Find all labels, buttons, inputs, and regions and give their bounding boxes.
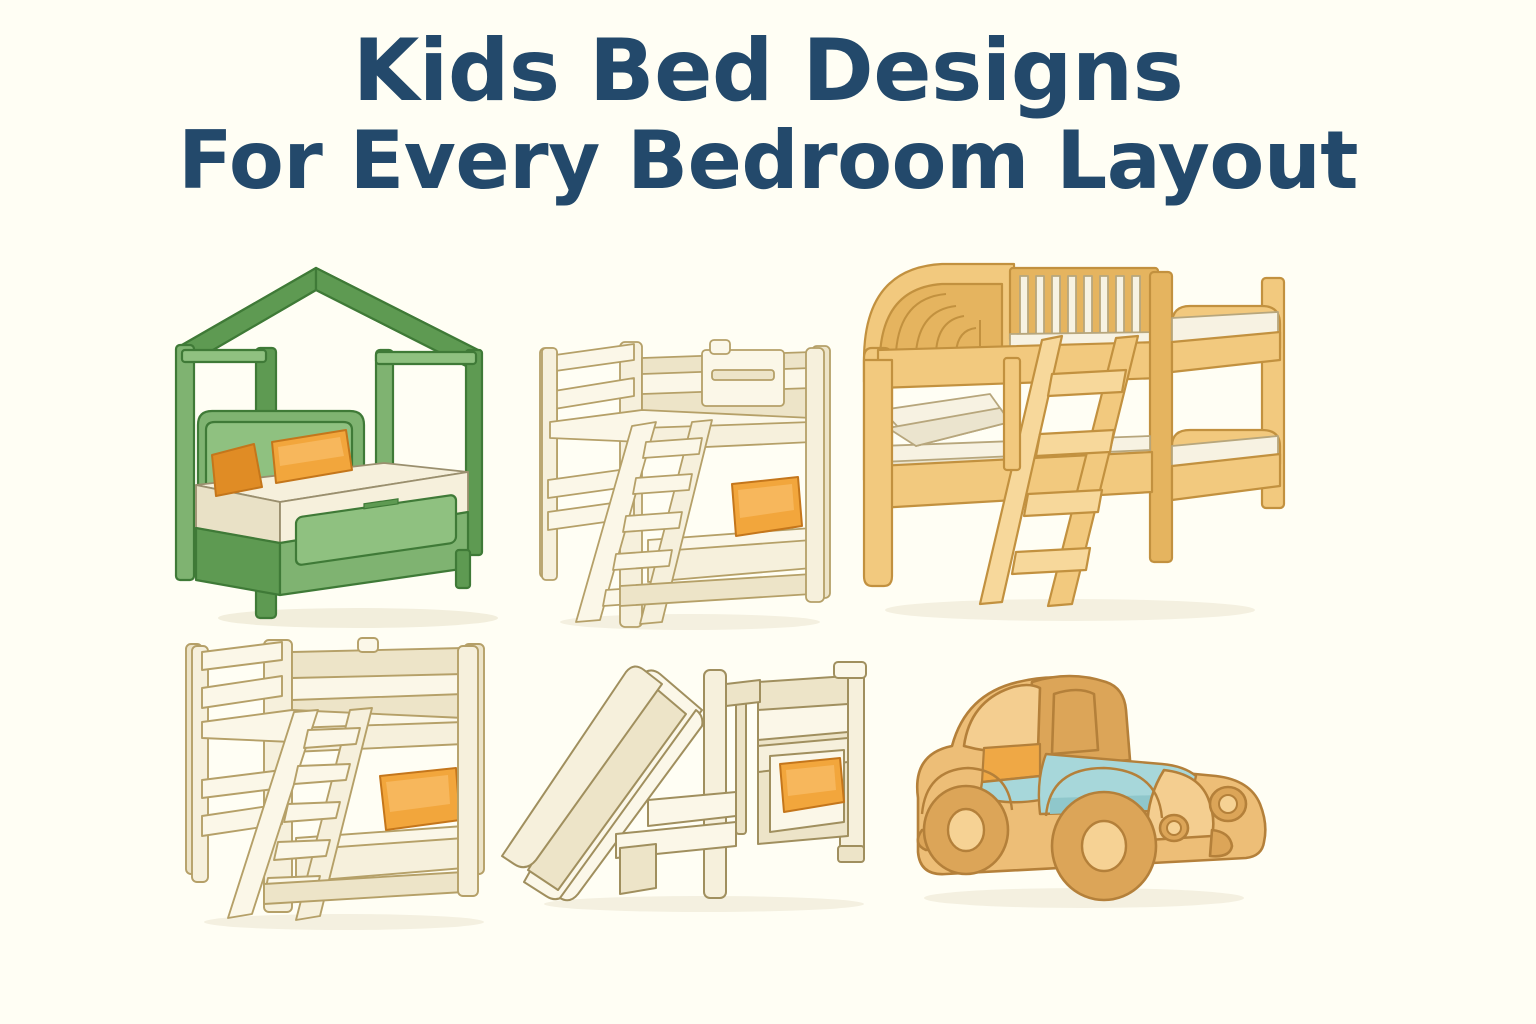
foot-right [838,846,864,862]
leg-front-left [864,360,892,586]
step-foot [620,844,656,894]
plaque-slot [712,370,774,380]
rail-left-upper [182,350,266,362]
post-front-right [806,348,824,602]
post-right-rear [1150,272,1172,562]
back-beam [726,680,760,706]
loft-slide-bed-illustration: .sF{fill:#F6F0DC;stroke:#A08F5E;stroke-w… [508,640,900,912]
post-back-thin [736,684,746,834]
post-right-front [458,646,478,896]
window-front [964,685,1040,752]
car-bed-illustration: .kF{fill:#EDBE77;stroke:#B4803A;stroke-w… [888,648,1280,912]
post-center [704,670,726,898]
white-bunk-bed-illustration: .nF{fill:#F6F0DC;stroke:#B5A068;stroke-w… [168,630,520,930]
headlight-lens [1219,795,1237,813]
post-left-front [192,646,208,882]
bed-illustration-grid: .gF{fill:#7FB371;stroke:#3F7A37;stroke-w… [0,248,1536,948]
wheel-front [1052,792,1156,900]
post-front-left [176,345,194,580]
house-bed-illustration: .gF{fill:#7FB371;stroke:#3F7A37;stroke-w… [168,250,528,630]
sidelight-lens [1167,821,1181,835]
post-cap-right [834,662,866,678]
center-support-post [1004,358,1020,470]
panel-knob [358,638,378,652]
floor-shadow [544,896,864,912]
floor-shadow [204,914,484,930]
page-title: Kids Bed Designs For Every Bedroom Layou… [0,28,1536,205]
cabin-rear-wall [1052,690,1098,754]
title-line-1: Kids Bed Designs [0,28,1536,116]
title-line-2: For Every Bedroom Layout [0,116,1536,206]
wheel-rear [924,786,1008,874]
poster-canvas: Kids Bed Designs For Every Bedroom Layou… [0,0,1536,1024]
post-left-front [542,348,557,580]
wooden-bunk-bed-illustration: .wF{fill:#F2C97E;stroke:#C2913F;stroke-w… [850,250,1290,630]
rail-right-upper [376,352,476,364]
leg-front-right [456,550,470,588]
plaque-knob [710,340,730,354]
slide [502,666,702,900]
cream-bunk-bed-illustration: .cF{fill:#F6F0DC;stroke:#B5A068;stroke-w… [520,330,860,630]
